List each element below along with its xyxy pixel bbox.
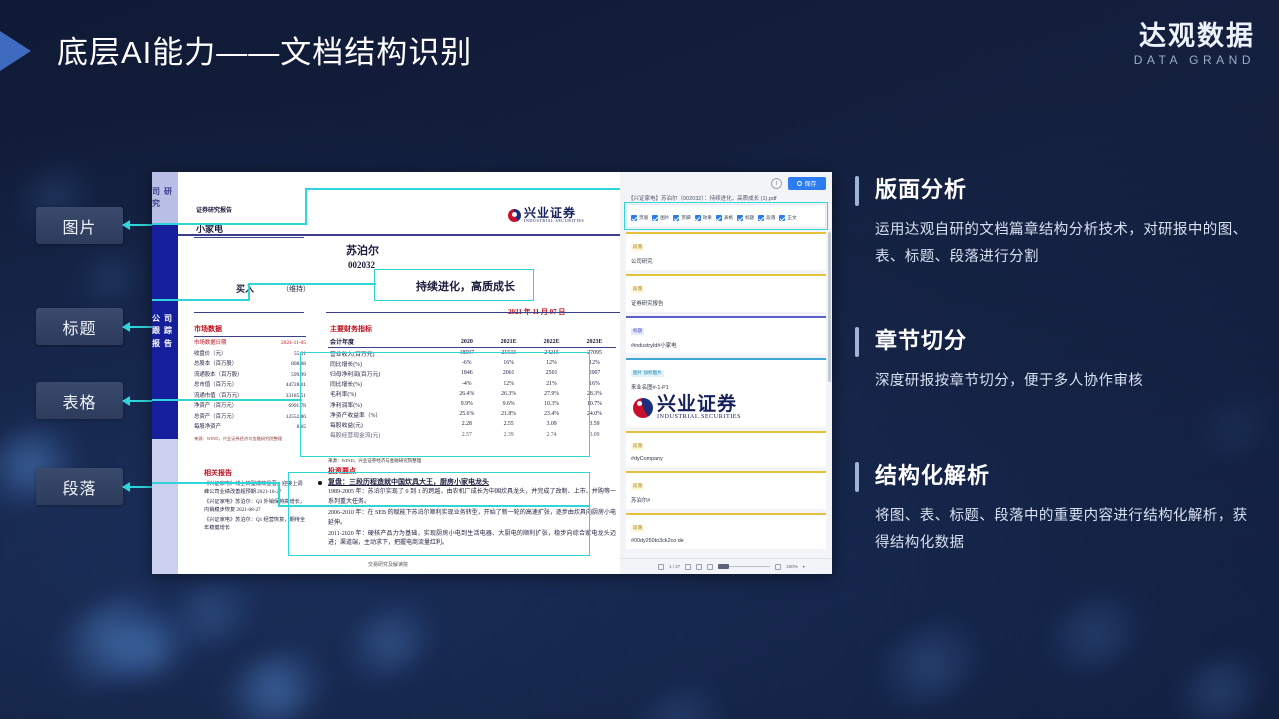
market-data-row: 总资产（百万元）12552.86 [194, 412, 306, 423]
doc-rating-prev: （维持） [282, 284, 310, 294]
highlight-keypoints-box [288, 472, 590, 556]
save-button-label: 保存 [804, 179, 816, 188]
structure-card-tag: 段落 [631, 443, 644, 450]
viewer-bottom-toolbar[interactable]: 1 / 27 100% ▾ [620, 558, 832, 574]
broker-name-cn: 兴业证券 [657, 395, 741, 414]
spine-segment-middle: 公 司 跟 踪 报 告 [152, 224, 178, 439]
highlight-filterbar-box [624, 202, 828, 230]
chevron-down-icon[interactable]: ▾ [803, 564, 805, 569]
market-data-row: 市场数据日期2021-11-05 [194, 338, 306, 349]
structure-card-accent [626, 358, 826, 360]
feature-title: 版面分析 [875, 172, 1255, 204]
product-screenshot[interactable]: 司 研 究 公 司 跟 踪 报 告 证券研究报告 小家电 兴业证券 INDUST… [152, 172, 832, 574]
market-data-row: 总股本（百万股）808.68 [194, 359, 306, 370]
broker-name-en: INDUSTRIAL SECURITIES [657, 414, 741, 420]
fit-page-icon[interactable] [658, 564, 664, 570]
structure-card-accent [626, 471, 826, 473]
structure-card-accent [626, 232, 826, 234]
market-data-title: 市场数据 [194, 324, 222, 334]
structure-card-accent [626, 274, 826, 276]
broker-logo-mark-icon [633, 398, 653, 418]
page-indicator: 1 / 27 [669, 564, 680, 569]
market-data-label: 总资产（百万元） [194, 412, 237, 423]
structure-card-body: 公司研究 [631, 257, 821, 265]
page-title: 底层AI能力——文档结构识别 [57, 27, 472, 72]
highlight-image-leader [152, 223, 307, 225]
doc-code: 002032 [348, 260, 375, 270]
structure-card-body: 证券研究报告 [631, 299, 821, 307]
structure-card-tag: 图片 加标图片 [631, 370, 664, 377]
structure-card[interactable]: 段落证券研究报告 [626, 274, 826, 312]
market-data-row: 收盘价（元）55.31 [194, 349, 306, 360]
market-data-row: 流通股本（百万股）599.99 [194, 370, 306, 381]
market-data-label: 净资产（百万元） [194, 401, 237, 412]
label-chip-heading[interactable]: 标题 [36, 308, 123, 345]
structure-card-accent [626, 431, 826, 433]
structure-card-tag: 段落 [631, 525, 644, 532]
structure-card[interactable]: 标题#industryId#小家电 [626, 316, 826, 354]
document-filename: 【兴证家电】苏泊尔（002032）：持续进化，高质成长 (1).pdf [628, 194, 777, 202]
financials-column-header: 2022E [530, 336, 573, 348]
zoom-slider[interactable] [718, 566, 770, 568]
feature-accent-bar [855, 327, 859, 357]
market-data-row: 每股净资产8.65 [194, 422, 306, 433]
structure-card-accent [626, 513, 826, 515]
brand-name-cn: 达观数据 [1134, 22, 1255, 50]
doc-rule [194, 237, 304, 238]
structure-card-body: #00dy250to3ck2co de [631, 538, 821, 544]
structure-card-body: #dyCompany [631, 456, 821, 462]
slide-header: 底层AI能力——文档结构识别 达观数据 DATA GRAND [0, 0, 1279, 100]
label-chip-table-text: 表格 [62, 389, 96, 413]
label-chip-table[interactable]: 表格 [36, 382, 123, 419]
doc-footer: 交易研究及解读院 [368, 561, 408, 568]
feature-description: 运用达观自研的文档篇章结构分析技术，对研报中的图、表、标题、段落进行分割 [875, 217, 1255, 271]
doc-rule [178, 234, 620, 236]
related-reports-title: 相关报告 [204, 468, 232, 478]
feature-block-layout-analysis: 版面分析 运用达观自研的文档篇章结构分析技术，对研报中的图、表、标题、段落进行分… [855, 172, 1255, 271]
financials-column-header: 2021E [487, 336, 530, 348]
structure-card[interactable]: 段落#00dy250to3ck2co de [626, 513, 826, 549]
save-spinner-icon [797, 181, 802, 186]
broker-logo: 兴业证券 INDUSTRIAL SECURITIES [508, 207, 584, 223]
highlight-image-leader [305, 188, 307, 224]
label-chip-paragraph[interactable]: 段落 [36, 468, 123, 505]
structure-card-image-preview: 兴业证券INDUSTRIAL SECURITIES [633, 395, 821, 420]
structure-card-tag: 段落 [631, 286, 644, 293]
rotate-icon[interactable] [685, 564, 691, 570]
highlight-headline-box [374, 269, 534, 301]
feature-accent-bar [855, 462, 859, 492]
zoom-level: 100% [786, 564, 798, 569]
financials-title: 主要财务指标 [330, 324, 372, 334]
market-data-label: 总市值（百万元） [194, 380, 237, 391]
doc-rule [326, 312, 620, 313]
highlight-heading-leader [248, 283, 250, 301]
doc-company: 苏泊尔 [346, 242, 379, 258]
market-data-label: 总股本（百万股） [194, 359, 237, 370]
highlight-paragraph-leader [278, 482, 280, 506]
structure-card-body: 来业名图#-1-P1 [631, 383, 821, 391]
feature-title: 章节切分 [875, 323, 1255, 355]
financials-column-header: 2023E [573, 336, 616, 348]
structure-card[interactable]: 段落#dyCompany [626, 431, 826, 467]
zoom-in-icon[interactable] [775, 564, 781, 570]
brand-name-en: DATA GRAND [1134, 53, 1255, 67]
feature-block-chapter-split: 章节切分 深度研报按章节切分，便于多人协作审核 [855, 323, 1255, 395]
market-data-source: 来源：WIND，兴业证券经济与金融研究院整理 [194, 435, 289, 441]
structure-panel[interactable]: i 保存 【兴证家电】苏泊尔（002032）：持续进化，高质成长 (1).pdf… [620, 172, 832, 574]
spine-segment-bottom [152, 439, 178, 574]
highlight-financials-box [300, 352, 590, 457]
structure-panel-scrollbar[interactable] [828, 232, 831, 382]
structure-card[interactable]: 段落公司研究 [626, 232, 826, 270]
market-data-value: 2021-11-05 [281, 338, 306, 349]
market-data-row: 净资产（百万元）6991.78 [194, 401, 306, 412]
feature-title: 结构化解析 [875, 458, 1255, 490]
zoom-out-icon[interactable] [707, 564, 713, 570]
structure-card-tag: 段落 [631, 483, 644, 490]
financials-source: 来源：WIND，兴业证券经济与金融研究院整理 [328, 457, 421, 463]
market-data-label: 市场数据日期 [194, 338, 226, 349]
market-data-row: 总市值（百万元）44728.01 [194, 380, 306, 391]
report-spine: 司 研 究 公 司 跟 踪 报 告 [152, 172, 178, 574]
structure-card-tag: 段落 [631, 244, 644, 251]
highlight-heading-leader [248, 283, 376, 285]
financials-column-header: 2020 [446, 336, 487, 348]
structure-card-tag: 标题 [631, 328, 644, 335]
label-chip-image[interactable]: 图片 [36, 207, 123, 244]
structure-card-list[interactable]: 段落公司研究段落证券研究报告标题#industryId#小家电图片 加标图片来业… [626, 232, 826, 556]
highlight-table-leader [152, 399, 302, 401]
spine-segment-top: 司 研 究 [152, 172, 178, 224]
feature-accent-bar [855, 176, 859, 206]
feature-description: 深度研报按章节切分，便于多人协作审核 [875, 368, 1255, 395]
arrow-marker-icon [0, 31, 31, 71]
grid-icon[interactable] [696, 564, 702, 570]
market-data-label: 流通股本（百万股） [194, 370, 243, 381]
structure-card[interactable]: 图片 加标图片来业名图#-1-P1兴业证券INDUSTRIAL SECURITI… [626, 358, 826, 427]
doc-rule [194, 312, 304, 313]
doc-kicker: 证券研究报告 [196, 205, 232, 214]
label-chip-heading-text: 标题 [62, 315, 96, 339]
info-icon[interactable]: i [771, 178, 782, 189]
broker-logo-mark-icon [508, 209, 521, 222]
doc-rule [194, 336, 306, 337]
market-data-label: 收盘价（元） [194, 349, 226, 360]
structure-card-body: #industryId#小家电 [631, 341, 821, 349]
structure-card-body: 苏泊尔# [631, 496, 821, 504]
structure-card[interactable]: 段落苏泊尔# [626, 471, 826, 509]
feature-block-structured-parsing: 结构化解析 将图、表、标题、段落中的重要内容进行结构化解析，获得结构化数据 [855, 458, 1255, 557]
market-data-rows: 市场数据日期2021-11-05收盘价（元）55.31总股本（百万股）808.6… [194, 338, 306, 433]
label-chip-image-text: 图片 [62, 214, 96, 238]
save-button[interactable]: 保存 [788, 177, 826, 190]
label-chip-paragraph-text: 段落 [62, 475, 96, 499]
broker-name-en: INDUSTRIAL SECURITIES [524, 219, 584, 223]
feature-description: 将图、表、标题、段落中的重要内容进行结构化解析，获得结构化数据 [875, 503, 1255, 557]
highlight-heading-leader [152, 299, 250, 301]
brand-logo: 达观数据 DATA GRAND [1134, 22, 1255, 67]
market-data-label: 每股净资产 [194, 422, 221, 433]
highlight-paragraph-leader [152, 482, 280, 484]
structure-card-accent [626, 316, 826, 318]
financials-column-header: 会计年度 [328, 336, 446, 348]
market-data-table: 市场数据日期2021-11-05收盘价（元）55.31总股本（百万股）808.6… [194, 336, 306, 442]
